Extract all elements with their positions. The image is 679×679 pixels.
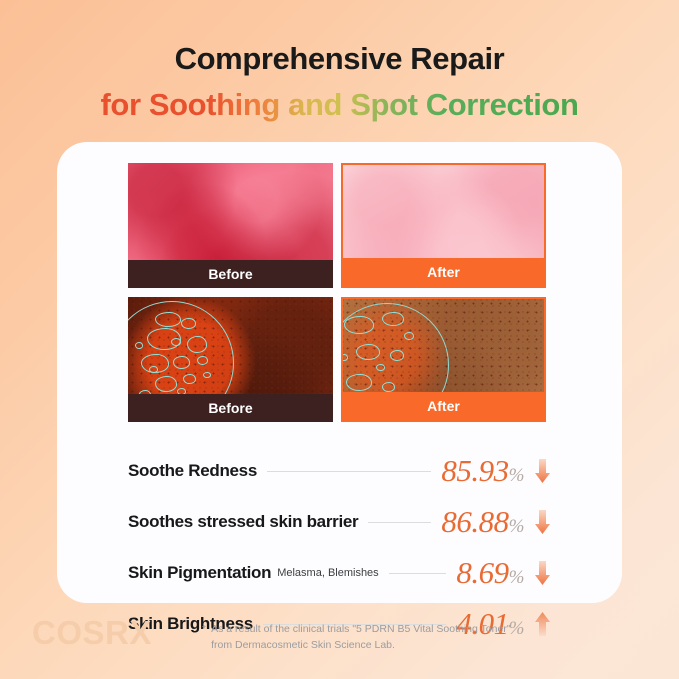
percent-symbol: % <box>509 516 524 537</box>
stat-connector-line <box>267 471 431 472</box>
stat-value: 86.88% <box>441 504 524 540</box>
percent-symbol: % <box>509 567 524 588</box>
stat-label: Soothes stressed skin barrier <box>128 512 358 532</box>
panel-label-before: Before <box>128 394 333 422</box>
panel-redness-before: Before <box>128 163 333 288</box>
cosrx-logo: COSRX <box>32 612 202 653</box>
stat-value: 85.93% <box>441 453 524 489</box>
asterisk-icon: * <box>202 621 206 654</box>
stat-sublabel: Melasma, Blemishes <box>277 567 378 579</box>
headline: Comprehensive Repair for Soothing and Sp… <box>0 40 679 125</box>
headline-line-2: for Soothing and Spot Correction <box>101 86 579 125</box>
content-card: Before After <box>57 142 622 603</box>
headline-line-1: Comprehensive Repair <box>0 40 679 79</box>
arrow-down-icon <box>531 560 553 586</box>
stat-label: Soothe Redness <box>128 461 257 481</box>
stat-connector-line <box>389 573 447 574</box>
comparison-row-redness: Before After <box>128 163 546 288</box>
arrow-down-icon <box>531 458 553 484</box>
panel-label-after: After <box>343 392 544 420</box>
footer: COSRX * As a result of the clinical tria… <box>32 612 652 654</box>
stat-row: Soothe Redness 85.93% <box>128 454 553 488</box>
panel-pigmentation-before: Before <box>128 297 333 422</box>
comparison-row-pigmentation: Before <box>128 297 546 422</box>
footnote-text: As a result of the clinical trials "5 PD… <box>211 621 510 654</box>
stat-connector-line <box>368 522 431 523</box>
percent-symbol: % <box>509 465 524 486</box>
panel-label-after: After <box>343 258 544 286</box>
stat-label: Skin Pigmentation <box>128 563 271 583</box>
stat-row: Skin Pigmentation Melasma, Blemishes 8.6… <box>128 556 553 590</box>
stat-value: 8.69% <box>456 555 524 591</box>
panel-redness-after: After <box>341 163 546 288</box>
panel-label-before: Before <box>128 260 333 288</box>
panel-pigmentation-after: After <box>341 297 546 422</box>
arrow-down-icon <box>531 509 553 535</box>
footnote: * As a result of the clinical trials "5 … <box>202 612 511 654</box>
before-after-grid: Before After <box>128 163 546 431</box>
stat-row: Soothes stressed skin barrier 86.88% <box>128 505 553 539</box>
